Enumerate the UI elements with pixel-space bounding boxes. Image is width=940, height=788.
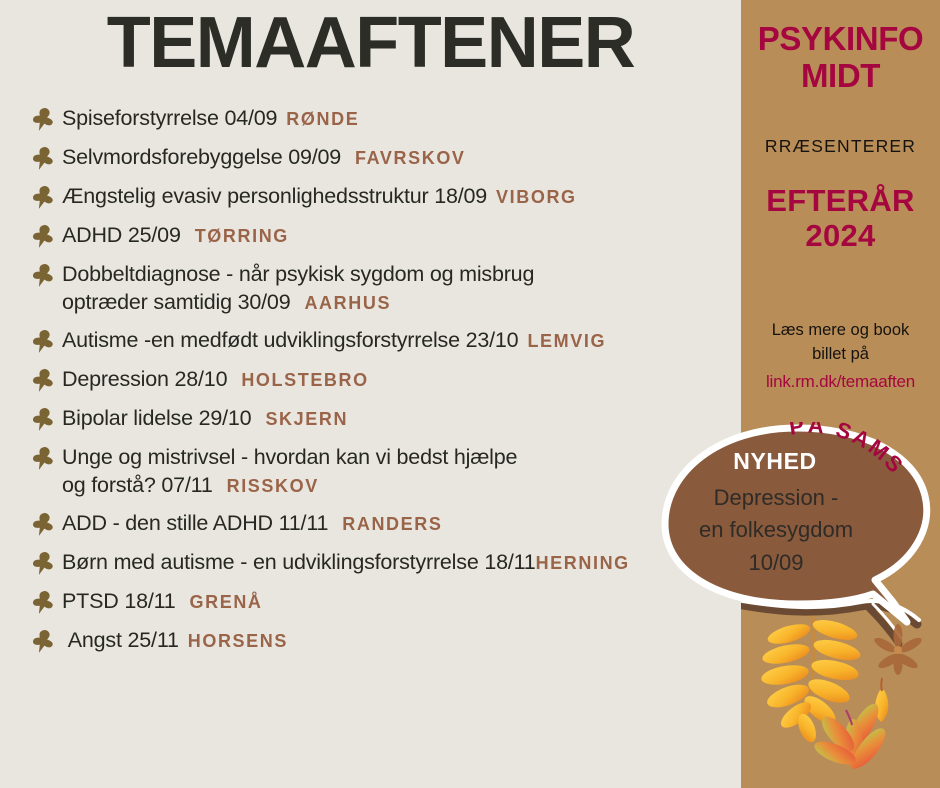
- pushpin-icon: [26, 262, 56, 290]
- event-city: GRENÅ: [190, 592, 263, 612]
- sidebar-panel: PSYKINFO MIDT RRÆSENTERER EFTERÅR 2024 L…: [741, 0, 940, 788]
- event-city: AARHUS: [304, 293, 391, 313]
- pushpin-icon: [26, 145, 56, 173]
- booking-url-link[interactable]: link.rm.dk/temaaften: [741, 369, 940, 394]
- event-city: FAVRSKOV: [355, 148, 465, 168]
- event-list-item: PTSD 18/11GRENÅ: [26, 587, 741, 617]
- pushpin-icon: [26, 589, 56, 617]
- pushpin-icon: [26, 328, 56, 356]
- season-label: EFTERÅR 2024: [741, 183, 940, 253]
- event-title: Autisme -en medfødt udviklingsforstyrrel…: [62, 326, 741, 354]
- event-list-item: Spiseforstyrrelse 04/09RØNDE: [26, 104, 741, 134]
- event-city: HOLSTEBRO: [241, 370, 368, 390]
- event-city: RISSKOV: [227, 476, 319, 496]
- booking-instruction: Læs mere og book billet på: [772, 321, 910, 363]
- pushpin-icon: [26, 628, 56, 656]
- pushpin-icon: [26, 511, 56, 539]
- event-list-item: Angst 25/11HORSENS: [26, 626, 741, 656]
- event-city: HORSENS: [188, 631, 288, 651]
- event-title: Unge og mistrivsel - hvordan kan vi beds…: [62, 443, 741, 500]
- event-title: Depression 28/10HOLSTEBRO: [62, 365, 741, 393]
- event-list-item: ADHD 25/09TØRRING: [26, 221, 741, 251]
- booking-info: Læs mere og book billet på link.rm.dk/te…: [741, 318, 940, 394]
- event-city: LEMVIG: [527, 331, 606, 351]
- event-title: Selvmordsforebyggelse 09/09FAVRSKOV: [62, 143, 741, 171]
- pushpin-icon: [26, 106, 56, 134]
- event-list-item: Selvmordsforebyggelse 09/09FAVRSKOV: [26, 143, 741, 173]
- event-city: SKJERN: [265, 409, 348, 429]
- left-content-column: TEMAAFTENER Spiseforstyrrelse 04/09RØNDE…: [0, 0, 741, 788]
- event-list-item: Børn med autisme - en udviklingsforstyrr…: [26, 548, 741, 578]
- event-title: Angst 25/11HORSENS: [62, 626, 741, 654]
- event-title: ADHD 25/09TØRRING: [62, 221, 741, 249]
- event-list-item: Bipolar lidelse 29/10SKJERN: [26, 404, 741, 434]
- event-title: Ængstelig evasiv personlighedsstruktur 1…: [62, 182, 741, 210]
- pushpin-icon: [26, 445, 56, 473]
- event-title: Dobbeltdiagnose - når psykisk sygdom og …: [62, 260, 741, 317]
- event-list-item: Unge og mistrivsel - hvordan kan vi beds…: [26, 443, 741, 500]
- event-city: TØRRING: [195, 226, 289, 246]
- event-title: PTSD 18/11GRENÅ: [62, 587, 741, 615]
- presents-label: RRÆSENTERER: [741, 136, 940, 157]
- event-list-item: Depression 28/10HOLSTEBRO: [26, 365, 741, 395]
- pushpin-icon: [26, 223, 56, 251]
- page-title: TEMAAFTENER: [0, 6, 741, 82]
- event-title: Børn med autisme - en udviklingsforstyrr…: [62, 548, 741, 576]
- brand-name: PSYKINFO MIDT: [741, 20, 940, 95]
- event-list-item: Dobbeltdiagnose - når psykisk sygdom og …: [26, 260, 741, 317]
- poster-canvas: TEMAAFTENER Spiseforstyrrelse 04/09RØNDE…: [0, 0, 940, 788]
- event-title: ADD - den stille ADHD 11/11RANDERS: [62, 509, 741, 537]
- event-city: HERNING: [536, 553, 630, 573]
- event-title: Bipolar lidelse 29/10SKJERN: [62, 404, 741, 432]
- pushpin-icon: [26, 550, 56, 578]
- event-city: VIBORG: [496, 187, 577, 207]
- pushpin-icon: [26, 367, 56, 395]
- event-list: Spiseforstyrrelse 04/09RØNDE Selvmordsfo…: [26, 104, 741, 665]
- event-city: RANDERS: [342, 514, 442, 534]
- event-city: RØNDE: [286, 109, 359, 129]
- news-speech-bubble: [657, 424, 940, 636]
- pushpin-icon: [26, 406, 56, 434]
- pushpin-icon: [26, 184, 56, 212]
- event-title: Spiseforstyrrelse 04/09RØNDE: [62, 104, 741, 132]
- event-list-item: Autisme -en medfødt udviklingsforstyrrel…: [26, 326, 741, 356]
- event-list-item: Ængstelig evasiv personlighedsstruktur 1…: [26, 182, 741, 212]
- event-list-item: ADD - den stille ADHD 11/11RANDERS: [26, 509, 741, 539]
